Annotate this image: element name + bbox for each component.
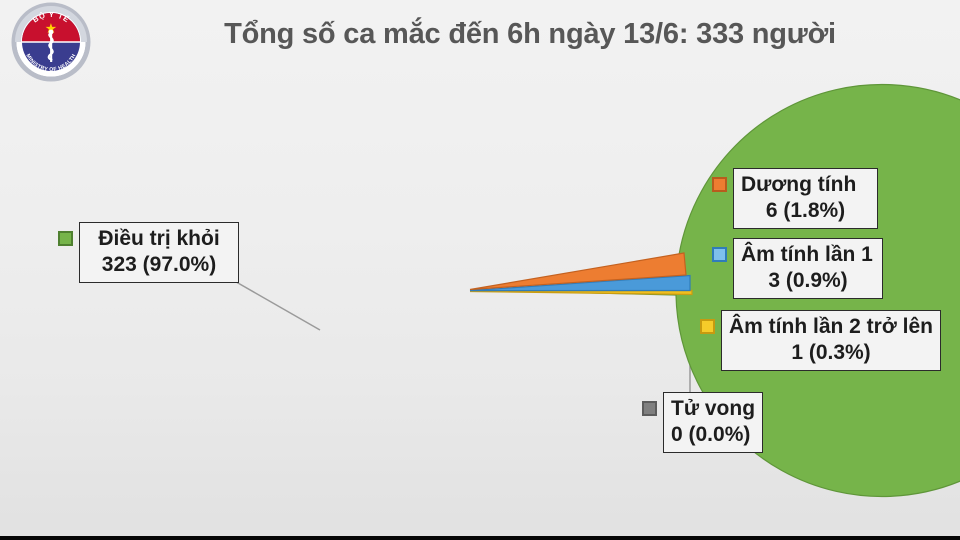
data-label-value-negative-1: 3 (0.9%) xyxy=(741,268,875,294)
data-label-box-recovered: Điều trị khỏi 323 (97.0%) xyxy=(79,222,239,283)
data-label-box-negative-2plus: Âm tính lần 2 trở lên 1 (0.3%) xyxy=(721,310,941,371)
data-label-recovered: Điều trị khỏi 323 (97.0%) xyxy=(58,222,239,283)
legend-swatch-death xyxy=(642,401,657,416)
data-label-box-death: Tử vong 0 (0.0%) xyxy=(663,392,763,453)
data-label-value-negative-2plus: 1 (0.3%) xyxy=(729,340,933,366)
data-label-death: Tử vong 0 (0.0%) xyxy=(642,392,763,453)
leader-line-recovered xyxy=(231,279,320,330)
data-label-negative-2plus: Âm tính lần 2 trở lên 1 (0.3%) xyxy=(700,310,941,371)
legend-swatch-negative-2plus xyxy=(700,319,715,334)
data-label-name-death: Tử vong xyxy=(671,396,755,422)
data-label-name-positive: Dương tính xyxy=(741,172,870,198)
legend-swatch-negative-1 xyxy=(712,247,727,262)
data-label-name-recovered: Điều trị khỏi xyxy=(87,226,231,252)
slide-bottom-bar xyxy=(0,536,960,540)
data-label-value-death: 0 (0.0%) xyxy=(671,422,755,448)
data-label-positive: Dương tính 6 (1.8%) xyxy=(712,168,878,229)
data-label-value-positive: 6 (1.8%) xyxy=(741,198,870,224)
data-label-box-negative-1: Âm tính lần 1 3 (0.9%) xyxy=(733,238,883,299)
data-label-value-recovered: 323 (97.0%) xyxy=(87,252,231,278)
slide-canvas: BỘ Y TẾ MINISTRY OF HEALTH Tổng số ca mắ… xyxy=(0,0,960,540)
data-label-box-positive: Dương tính 6 (1.8%) xyxy=(733,168,878,229)
data-label-name-negative-1: Âm tính lần 1 xyxy=(741,242,875,268)
data-label-negative-1: Âm tính lần 1 3 (0.9%) xyxy=(712,238,883,299)
legend-swatch-positive xyxy=(712,177,727,192)
legend-swatch-recovered xyxy=(58,231,73,246)
data-label-name-negative-2plus: Âm tính lần 2 trở lên xyxy=(729,314,933,340)
